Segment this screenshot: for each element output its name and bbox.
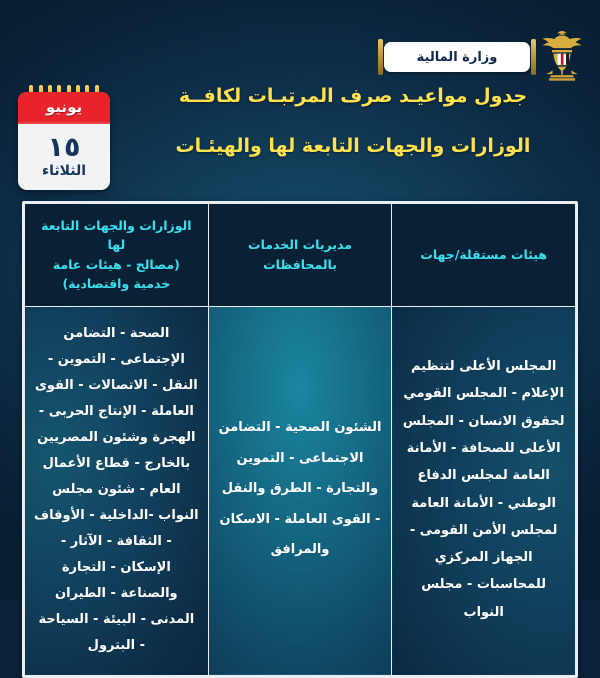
ministry-name-label: وزارة المالية	[417, 51, 498, 64]
ministry-name-pill: وزارة المالية	[384, 42, 530, 72]
header-line: خدمية واقتصادية)	[31, 274, 202, 293]
cell-independent-bodies: المجلس الأعلى لتنظيم الإعلام - المجلس ال…	[392, 306, 576, 675]
column-header-governorate-service-directorates: مديريات الخدمات بالمحافظات	[208, 204, 392, 307]
calendar-day-number: ١٥	[48, 134, 81, 161]
header-line: بالمحافظات	[215, 255, 386, 274]
column-header-independent-bodies: هيئات مستقلة/جهات	[392, 204, 576, 307]
page-title-line-1: جدول مواعيـد صرف المرتبـات لكافــة	[120, 86, 586, 108]
header-line: (مصالح - هيئات عامة	[31, 255, 202, 274]
table-head: هيئات مستقلة/جهات مديريات الخدمات بالمحا…	[25, 204, 576, 307]
calendar-body: ١٥ الثلاثاء	[18, 124, 110, 190]
schedule-table: هيئات مستقلة/جهات مديريات الخدمات بالمحا…	[24, 203, 576, 676]
infographic-page: وزارة المالية يونيو ١٥ الثلاثاء جدول موا…	[0, 0, 600, 600]
header-line: هيئات مستقلة/جهات	[398, 245, 569, 264]
calendar-weekday-label: الثلاثاء	[42, 163, 86, 180]
calendar-month-band: يونيو	[18, 92, 110, 122]
page-title-line-2: الوزارات والجهات التابعة لها والهيئـات	[120, 136, 586, 158]
table-body: المجلس الأعلى لتنظيم الإعلام - المجلس ال…	[25, 306, 576, 675]
cell-governorate-service-directorates: الشئون الصحية - التضامن الاجتماعى - التم…	[208, 306, 392, 675]
salary-schedule-table: هيئات مستقلة/جهات مديريات الخدمات بالمحا…	[22, 201, 578, 678]
table-header-row: هيئات مستقلة/جهات مديريات الخدمات بالمحا…	[25, 204, 576, 307]
calendar-divider	[18, 122, 110, 124]
cell-ministries: الصحة - التضامن الإجتماعى - التموين - ال…	[25, 306, 209, 675]
brand-header: وزارة المالية	[0, 0, 600, 92]
egypt-eagle-emblem-icon	[536, 28, 588, 86]
header-line: مديريات الخدمات	[215, 235, 386, 254]
calendar-month-label: يونيو	[46, 100, 82, 115]
column-header-ministries: الوزارات والجهات التابعة لها (مصالح - هي…	[25, 204, 209, 307]
calendar-icon: يونيو ١٥ الثلاثاء	[18, 92, 110, 190]
page-title: جدول مواعيـد صرف المرتبـات لكافــة الوزا…	[120, 86, 586, 158]
table-row: المجلس الأعلى لتنظيم الإعلام - المجلس ال…	[25, 306, 576, 675]
brand-lockup: وزارة المالية	[384, 28, 588, 86]
header-line: الوزارات والجهات التابعة لها	[31, 216, 202, 255]
